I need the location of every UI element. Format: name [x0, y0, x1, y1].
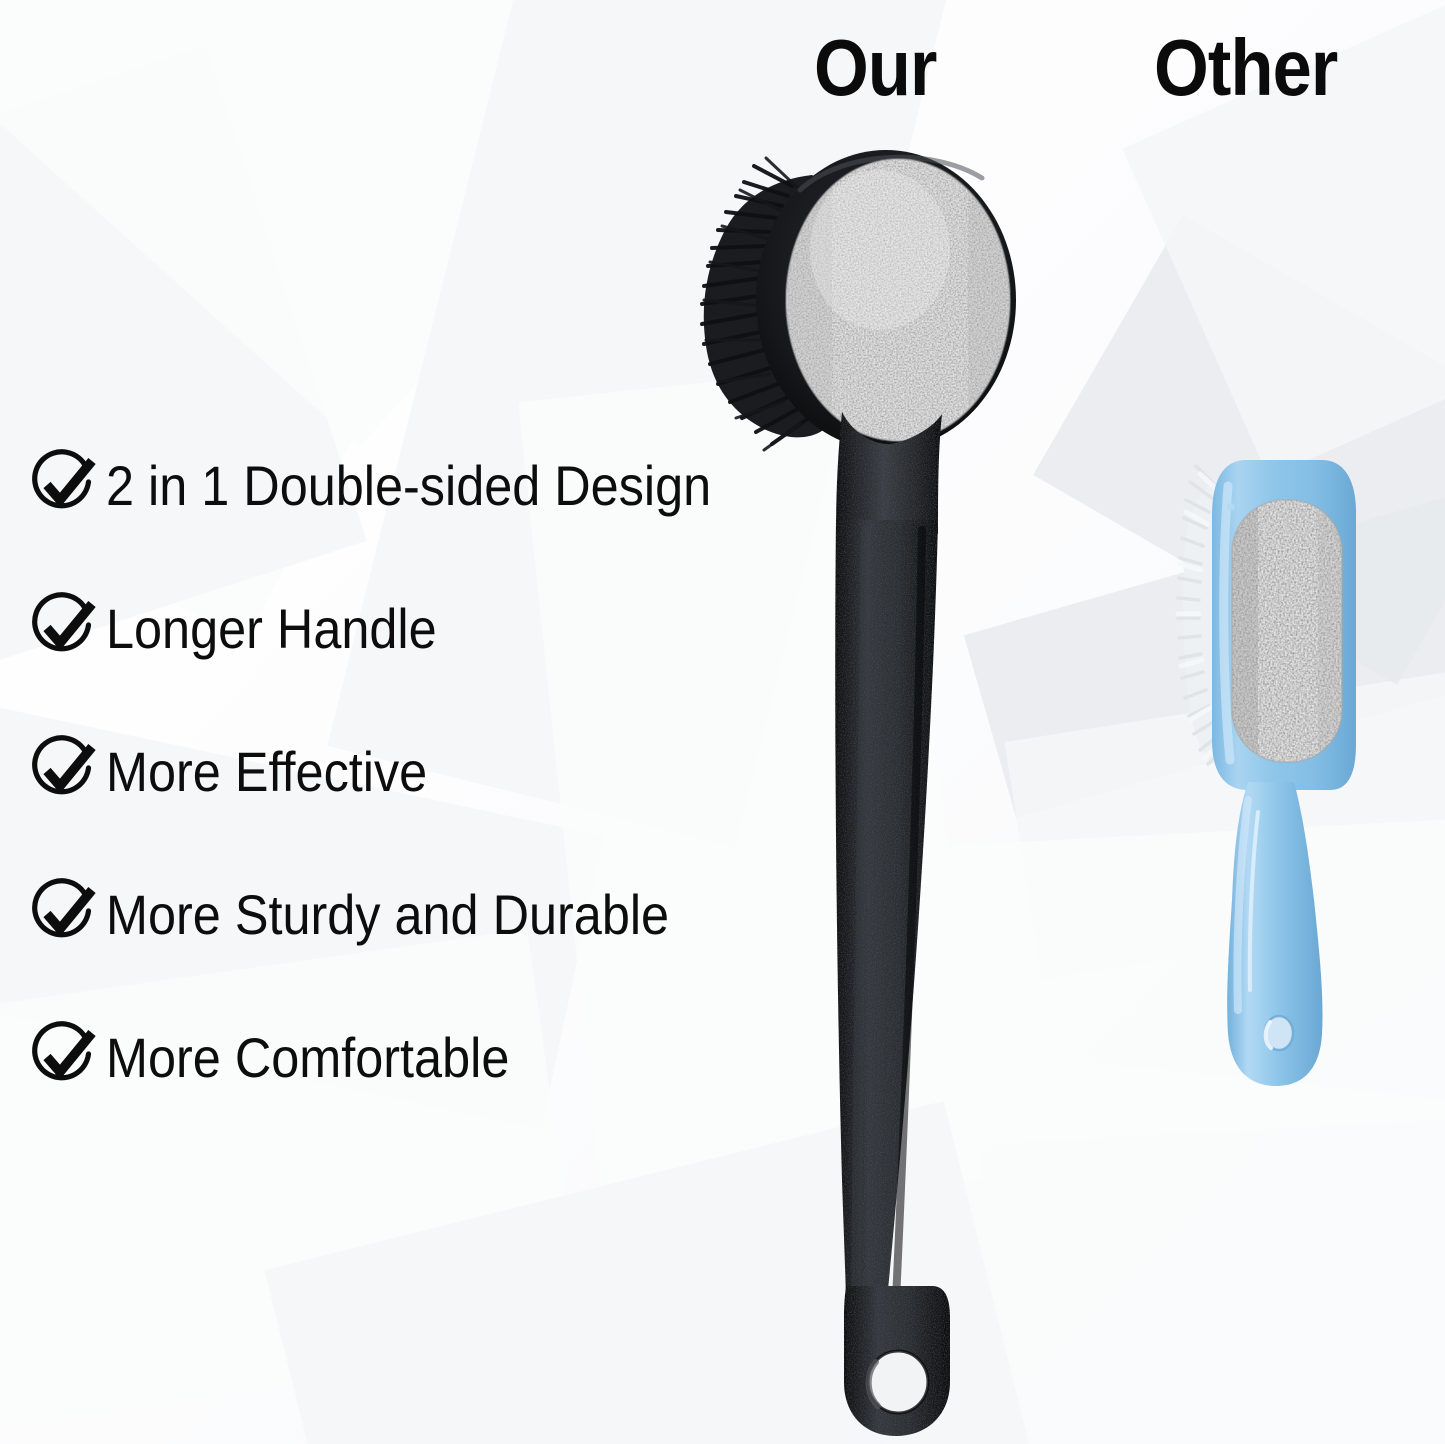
check-circle-icon — [30, 882, 96, 948]
feature-label: More Sturdy and Durable — [106, 887, 669, 943]
feature-label: More Comfortable — [106, 1030, 509, 1086]
check-circle-icon — [30, 1025, 96, 1091]
feature-item: More Effective — [30, 724, 830, 820]
feature-item: More Sturdy and Durable — [30, 867, 830, 963]
feature-item: More Comfortable — [30, 1010, 830, 1106]
feature-item: Longer Handle — [30, 581, 830, 677]
check-circle-icon — [30, 739, 96, 805]
other-column-heading: Other — [1154, 28, 1337, 108]
check-circle-icon — [30, 453, 96, 519]
our-column-heading: Our — [814, 28, 937, 108]
check-circle-icon — [30, 596, 96, 662]
feature-label: Longer Handle — [106, 601, 437, 657]
feature-item: 2 in 1 Double-sided Design — [30, 438, 830, 534]
feature-list: 2 in 1 Double-sided Design Longer Handle… — [30, 438, 830, 1153]
feature-label: More Effective — [106, 744, 427, 800]
feature-label: 2 in 1 Double-sided Design — [106, 458, 711, 514]
product-comparison-image: Our Other — [0, 0, 1445, 1444]
